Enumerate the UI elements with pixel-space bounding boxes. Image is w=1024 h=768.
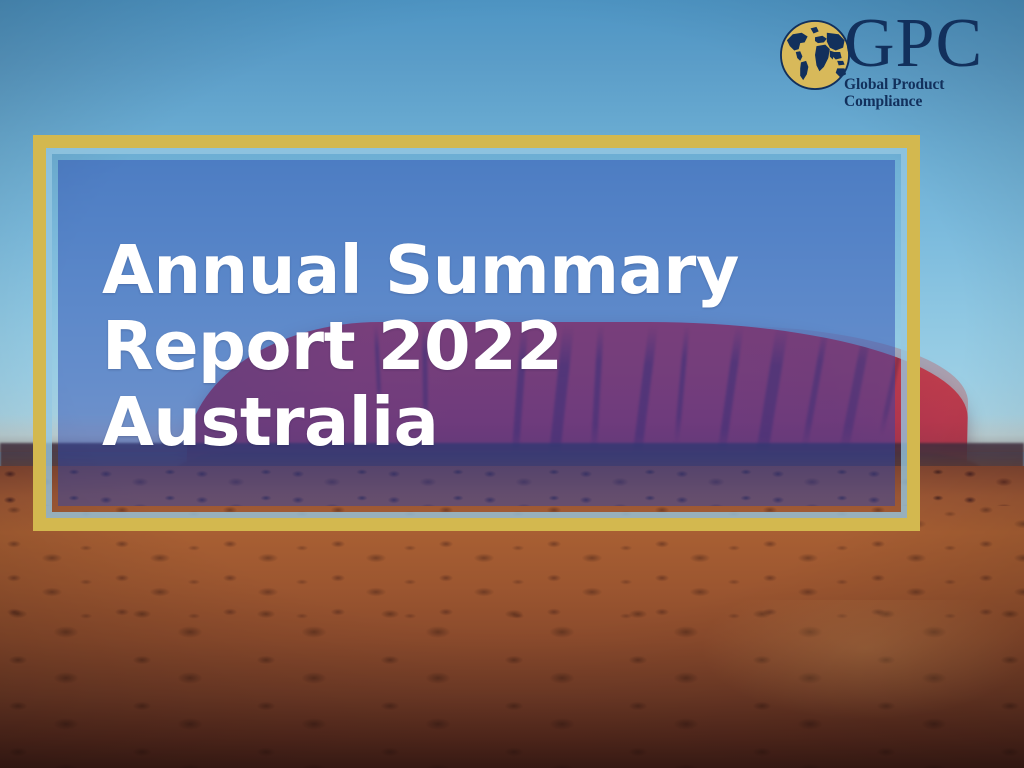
gpc-logo: GPC Global Product Compliance	[778, 14, 1014, 106]
title-line-1: Annual Summary	[102, 232, 842, 308]
logo-wordmark-block: GPC Global Product Compliance	[844, 8, 1016, 110]
globe-icon	[778, 18, 852, 92]
title-line-3: Australia	[102, 384, 842, 460]
gold-border-frame: Annual Summary Report 2022 Australia	[33, 135, 920, 531]
logo-wordmark: GPC	[844, 8, 1016, 80]
frame-inner-gap: Annual Summary Report 2022 Australia	[46, 148, 907, 518]
title-slide: Annual Summary Report 2022 Australia	[0, 0, 1024, 768]
logo-tagline: Global Product Compliance	[844, 76, 1016, 110]
page-title: Annual Summary Report 2022 Australia	[102, 232, 842, 460]
blue-overlay-panel: Annual Summary Report 2022 Australia	[58, 160, 895, 506]
title-line-2: Report 2022	[102, 308, 842, 384]
